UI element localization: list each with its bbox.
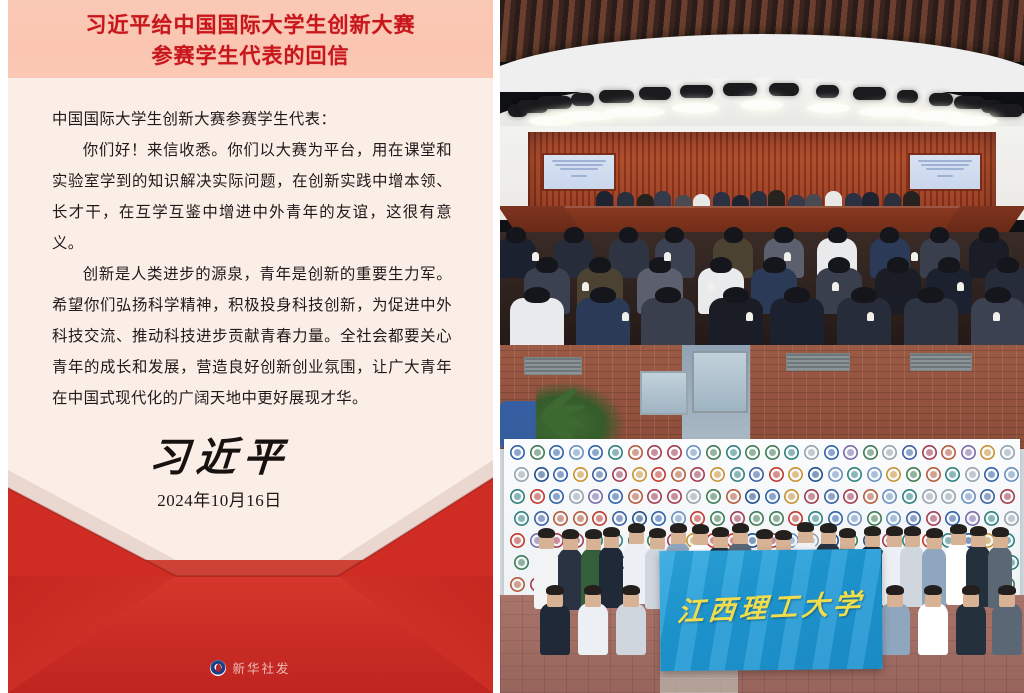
letter-panel: 习近平给中国国际大学生创新大赛 参赛学生代表的回信 中国国际大学生创新大赛参赛学… (8, 0, 493, 693)
photo-conference-hall (500, 0, 1024, 345)
wall-vent-2 (786, 353, 850, 371)
page-title-line-2: 参赛学生代表的回信 (8, 41, 493, 72)
building-window-1 (692, 351, 748, 413)
letter-paragraph-2: 创新是人类进步的源泉，青年是创新的重要生力军。希望你们弘扬科学精神，积极投身科技… (52, 259, 452, 414)
xinhua-credit: 新华社发 (8, 658, 493, 677)
page-title: 习近平给中国国际大学生创新大赛 参赛学生代表的回信 (8, 10, 493, 72)
letter-salutation: 中国国际大学生创新大赛参赛学生代表： (52, 104, 452, 135)
university-banner-text: 江西理工大学 (659, 581, 882, 630)
building-window-2 (640, 371, 688, 415)
signature: 习近平 (147, 432, 292, 484)
page-title-line-1: 习近平给中国国际大学生创新大赛 (8, 10, 493, 41)
signature-block: 习近平 2024年10月16日 (8, 432, 493, 511)
letter-body: 中国国际大学生创新大赛参赛学生代表： 你们好！来信收悉。你们以大赛为平台，用在课… (52, 104, 452, 414)
letter-paragraph-1: 你们好！来信收悉。你们以大赛为平台，用在课堂和实验室学到的知识解决实际问题，在创… (52, 135, 452, 259)
university-banner: 江西理工大学 (659, 549, 882, 671)
wall-vent-1 (524, 357, 582, 375)
photo-group-banner: 江西理工大学 (500, 345, 1024, 693)
palm-foliage (536, 381, 626, 443)
xinhua-credit-text: 新华社发 (232, 658, 290, 677)
signature-date: 2024年10月16日 (8, 486, 431, 511)
photo-column: 江西理工大学 (500, 0, 1024, 693)
wall-vent-3 (910, 353, 972, 371)
poster-root: 习近平给中国国际大学生创新大赛 参赛学生代表的回信 中国国际大学生创新大赛参赛学… (0, 0, 1024, 693)
ceiling-slats (500, 0, 1024, 62)
xinhua-circle-icon (210, 660, 226, 676)
